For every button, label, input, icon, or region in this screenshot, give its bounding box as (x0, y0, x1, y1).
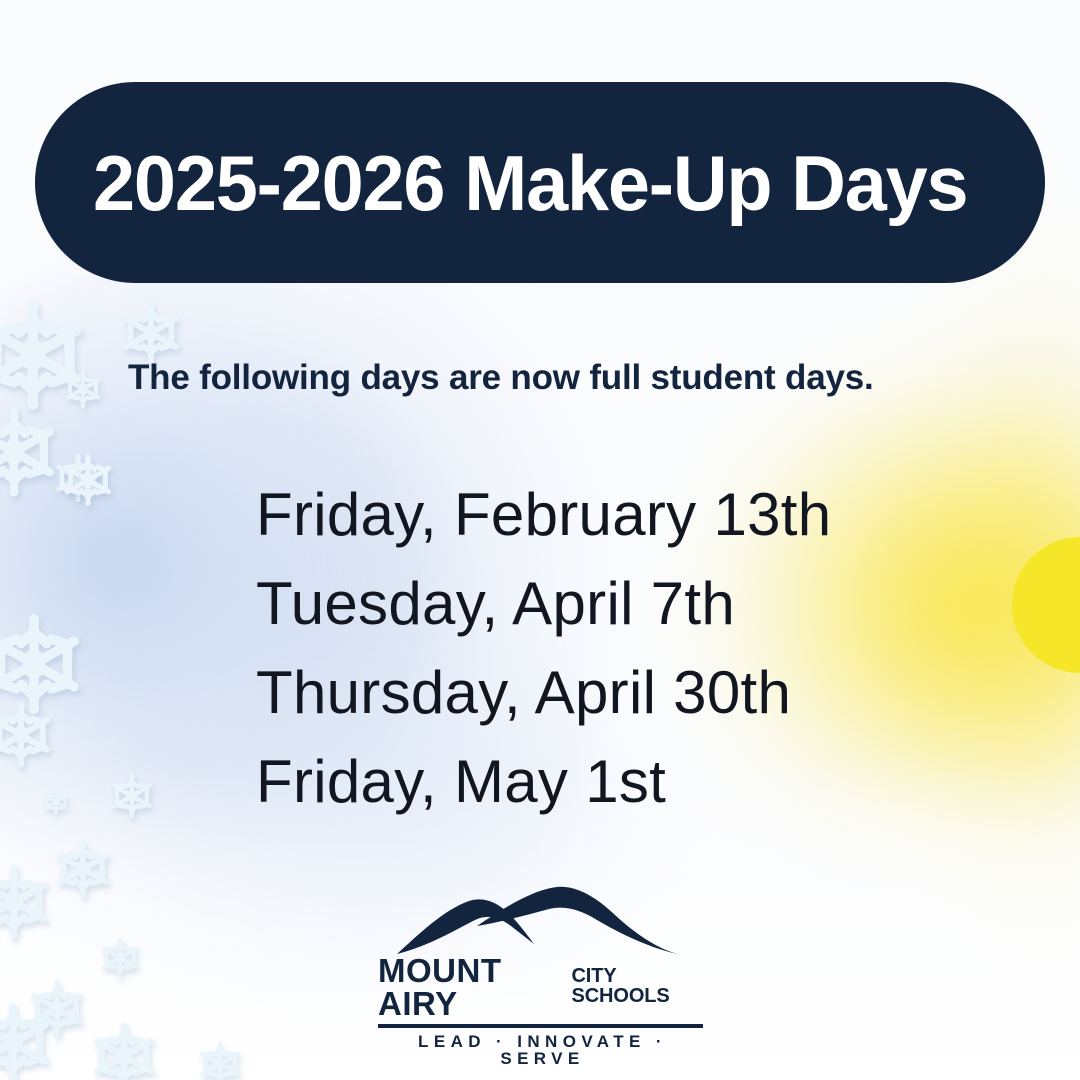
list-item: Friday, May 1st (256, 737, 896, 826)
logo-name-primary: MOUNT AIRY (378, 954, 565, 1020)
list-item: Friday, February 13th (256, 470, 896, 559)
list-item: Thursday, April 30th (256, 648, 896, 737)
logo-tagline: LEAD · INNOVATE · SERVE (378, 1033, 703, 1067)
list-item: Tuesday, April 7th (256, 559, 896, 648)
page-title: 2025-2026 Make-Up Days (93, 144, 967, 222)
mountain-peaks-icon (391, 884, 691, 956)
announcement-poster: 2025-2026 Make-Up Days The following day… (0, 0, 1080, 1080)
title-banner: 2025-2026 Make-Up Days (35, 82, 1045, 283)
logo-divider (378, 1024, 703, 1028)
district-logo: MOUNT AIRY CITY SCHOOLS LEAD · INNOVATE … (378, 884, 703, 1067)
makeup-days-list: Friday, February 13th Tuesday, April 7th… (256, 470, 896, 826)
logo-name-secondary: CITY SCHOOLS (571, 966, 703, 1006)
logo-wordmark: MOUNT AIRY CITY SCHOOLS (378, 954, 703, 1020)
subtitle-text: The following days are now full student … (128, 358, 874, 398)
